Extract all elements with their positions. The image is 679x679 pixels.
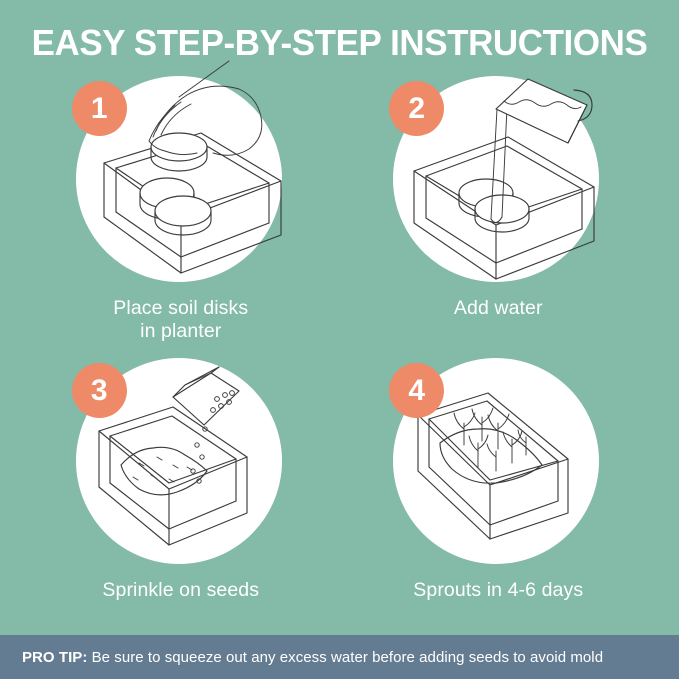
step-1-illustration: 1 — [61, 71, 301, 289]
step-4-caption-line1: Sprouts in 4-6 days — [413, 579, 583, 601]
step-4-illustration: 4 — [378, 353, 618, 571]
pro-tip-body: Be sure to squeeze out any excess water … — [87, 649, 603, 666]
step-1: 1 Place soil disks in planter — [22, 71, 340, 353]
step-3: 3 Sprinkle on seeds — [22, 353, 340, 635]
step-3-badge: 3 — [72, 363, 127, 418]
step-2-illustration: 2 — [378, 71, 618, 289]
step-4: 4 Sprouts in 4-6 days — [340, 353, 658, 635]
step-3-caption: Sprinkle on seeds — [102, 579, 259, 602]
step-1-caption-line2: in planter — [113, 320, 248, 343]
step-1-caption-line1: Place soil disks — [113, 297, 248, 319]
page-title: EASY STEP-BY-STEP INSTRUCTIONS — [10, 25, 669, 61]
step-1-badge: 1 — [72, 81, 127, 136]
pro-tip-label: PRO TIP: — [22, 649, 87, 666]
pro-tip-bar: PRO TIP: Be sure to squeeze out any exce… — [0, 635, 679, 679]
step-3-caption-line1: Sprinkle on seeds — [102, 579, 259, 601]
step-2-caption-line1: Add water — [454, 297, 543, 319]
step-4-caption: Sprouts in 4-6 days — [413, 579, 583, 602]
step-2: 2 Add water — [340, 71, 658, 353]
step-4-badge: 4 — [389, 363, 444, 418]
steps-grid: 1 Place soil disks in planter — [0, 61, 679, 635]
step-3-illustration: 3 — [61, 353, 301, 571]
step-1-caption: Place soil disks in planter — [113, 297, 248, 343]
step-2-badge: 2 — [389, 81, 444, 136]
instructions-poster: EASY STEP-BY-STEP INSTRUCTIONS — [0, 0, 679, 679]
pro-tip-text: PRO TIP: Be sure to squeeze out any exce… — [22, 649, 603, 666]
step-2-caption: Add water — [454, 297, 543, 320]
